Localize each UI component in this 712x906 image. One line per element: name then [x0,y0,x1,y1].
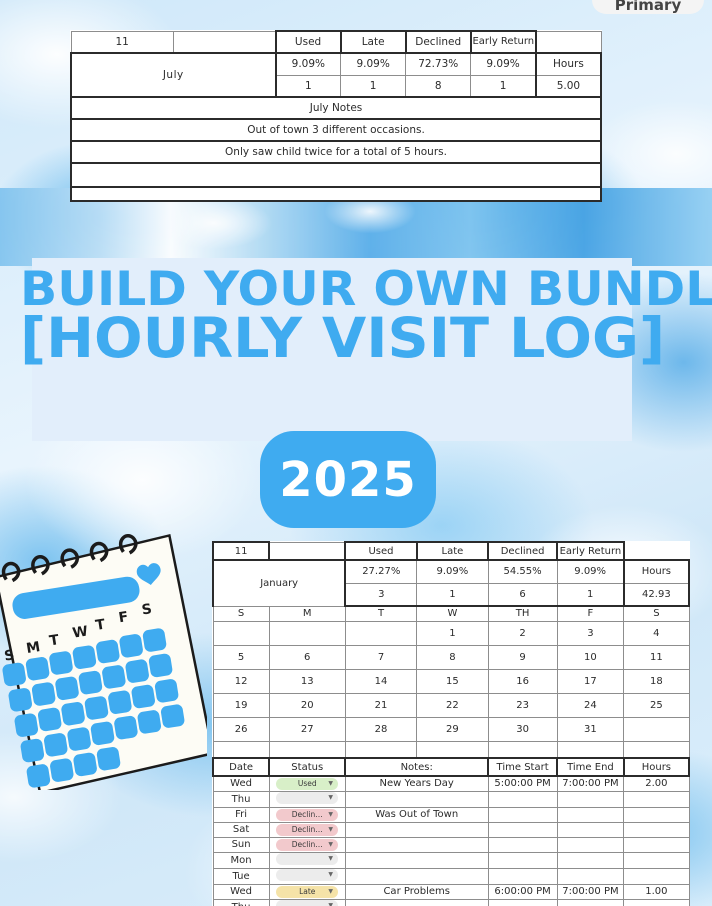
log-header-time-end: Time End [557,758,624,776]
log-cell-hours: 2.00 [624,776,689,791]
calendar-day-cell[interactable]: 8 [417,645,488,669]
july-month-name: July [71,53,276,97]
log-cell-status[interactable]: ▼ [269,899,345,906]
july-percent-declined: 72.73% [406,53,471,75]
status-chip[interactable]: ▼ [276,792,338,804]
chevron-down-icon[interactable]: ▼ [328,853,333,865]
log-row: Tue▼ [213,868,689,884]
calendar-day-cell[interactable]: 31 [557,717,624,741]
chevron-down-icon[interactable]: ▼ [328,900,333,906]
log-cell-time-start[interactable] [488,899,557,906]
log-cell-notes[interactable] [345,852,488,868]
calendar-day-cell[interactable]: 25 [624,693,689,717]
july-header-declined: Declined [406,31,471,53]
chevron-down-icon[interactable]: ▼ [328,792,333,804]
log-cell-time-end[interactable] [557,807,624,822]
log-row: SunDeclin…▼ [213,837,689,852]
status-chip[interactable]: ▼ [276,900,338,906]
log-cell-date: Wed [213,884,269,899]
log-row: Thu▼ [213,791,689,807]
log-cell-hours [624,822,689,837]
log-cell-hours [624,791,689,807]
january-header-declined: Declined [488,542,557,560]
log-row: WedLate▼Car Problems6:00:00 PM7:00:00 PM… [213,884,689,899]
january-blank-cell [269,542,345,560]
primary-pill-label: Primary [592,0,704,14]
july-spacer-cell [536,31,601,53]
log-cell-status[interactable]: Late▼ [269,884,345,899]
log-cell-date: Sun [213,837,269,852]
log-cell-date: Wed [213,776,269,791]
july-percent-row: July 9.09% 9.09% 72.73% 9.09% Hours [71,53,601,75]
chevron-down-icon[interactable]: ▼ [328,778,333,790]
log-cell-status[interactable]: ▼ [269,852,345,868]
january-percent-late: 9.09% [417,560,488,583]
calendar-day-header-row: S M T W TH F S [213,606,689,621]
calendar-day-cell[interactable]: 2 [488,621,557,645]
log-rows-container: WedUsed▼New Years Day5:00:00 PM7:00:00 P… [213,776,689,906]
chevron-down-icon[interactable]: ▼ [328,824,333,836]
log-cell-hours [624,837,689,852]
july-count-early-return: 1 [471,75,536,97]
calendar-day-cell[interactable]: 12 [213,669,269,693]
calendar-illustration: SMT WTF S [0,520,207,790]
log-cell-time-end[interactable] [557,791,624,807]
calendar-day-cell[interactable]: 7 [345,645,416,669]
log-cell-time-end[interactable] [557,837,624,852]
chevron-down-icon[interactable]: ▼ [328,869,333,881]
january-hours-label: Hours [624,560,689,583]
log-cell-time-start[interactable] [488,837,557,852]
status-chip[interactable]: Used▼ [276,778,338,790]
july-row-number: 11 [71,31,173,53]
july-header-used: Used [276,31,341,53]
spacer-cell [345,741,416,758]
log-cell-time-end[interactable] [557,852,624,868]
january-count-declined: 6 [488,583,557,606]
status-chip[interactable]: Declin…▼ [276,809,338,821]
chevron-down-icon[interactable]: ▼ [328,809,333,821]
log-cell-date: Thu [213,899,269,906]
title-line-2: [HOURLY VISIT LOG] [20,313,644,364]
january-header-early-return: Early Return [557,542,624,560]
log-cell-date: Sat [213,822,269,837]
calendar-day-header-fri: F [557,606,624,621]
january-spacer-cell [624,542,689,560]
january-hours-value: 42.93 [624,583,689,606]
calendar-week-row: 26 27 28 29 30 31 [213,717,689,741]
january-percent-row: January 27.27% 9.09% 54.55% 9.09% Hours [213,560,689,583]
log-cell-hours [624,852,689,868]
january-log-sheet: 11 Used Late Declined Early Return Janua… [212,541,690,906]
log-cell-notes[interactable]: Was Out of Town [345,807,488,822]
calendar-week-row: 12 13 14 15 16 17 18 [213,669,689,693]
log-cell-notes[interactable] [345,837,488,852]
log-cell-time-end[interactable]: 7:00:00 PM [557,884,624,899]
july-note-3 [71,163,601,187]
calendar-day-cell[interactable]: 15 [417,669,488,693]
calendar-day-cell[interactable]: 26 [213,717,269,741]
log-cell-status[interactable]: ▼ [269,791,345,807]
calendar-day-cell[interactable] [624,717,689,741]
january-stat-header-row: 11 Used Late Declined Early Return [213,542,689,560]
log-cell-hours: 1.00 [624,884,689,899]
calendar-day-cell[interactable]: 16 [488,669,557,693]
calendar-week-row: 5 6 7 8 9 10 11 [213,645,689,669]
log-cell-time-end[interactable] [557,899,624,906]
calendar-day-cell[interactable]: 6 [269,645,345,669]
calendar-week-row: 19 20 21 22 23 24 25 [213,693,689,717]
log-header-status: Status [269,758,345,776]
log-cell-notes[interactable] [345,868,488,884]
calendar-day-header-thu: TH [488,606,557,621]
log-cell-time-end[interactable]: 7:00:00 PM [557,776,624,791]
calendar-day-cell[interactable]: 13 [269,669,345,693]
log-cell-time-start[interactable] [488,807,557,822]
log-header-hours: Hours [624,758,689,776]
calendar-day-cell[interactable]: 22 [417,693,488,717]
july-table: 11 Used Late Declined Early Return July … [70,30,602,202]
status-chip[interactable]: Declin…▼ [276,839,338,851]
calendar-week-row: 1 2 3 4 [213,621,689,645]
calendar-day-header-tue: T [345,606,416,621]
july-count-declined: 8 [406,75,471,97]
svg-text:W: W [71,623,89,641]
log-cell-time-end[interactable] [557,868,624,884]
status-chip[interactable]: ▼ [276,853,338,865]
january-header-late: Late [417,542,488,560]
calendar-day-header-sun: S [213,606,269,621]
calendar-day-cell[interactable]: 5 [213,645,269,669]
log-cell-notes[interactable] [345,822,488,837]
calendar-day-cell[interactable]: 10 [557,645,624,669]
year-badge-text: 2025 [279,452,417,508]
calendar-day-cell[interactable]: 19 [213,693,269,717]
log-cell-notes[interactable] [345,791,488,807]
log-cell-time-start[interactable] [488,791,557,807]
log-header-row: Date Status Notes: Time Start Time End H… [213,758,689,776]
status-chip[interactable]: Late▼ [276,886,338,898]
log-cell-date: Mon [213,852,269,868]
july-percent-late: 9.09% [341,53,406,75]
log-cell-time-start[interactable] [488,868,557,884]
january-percent-declined: 54.55% [488,560,557,583]
january-row-number: 11 [213,542,269,560]
log-cell-status[interactable]: ▼ [269,868,345,884]
log-cell-time-start[interactable] [488,852,557,868]
january-header-used: Used [345,542,416,560]
calendar-day-cell[interactable]: 30 [488,717,557,741]
july-note-row [71,163,601,187]
spacer-cell [417,741,488,758]
january-percent-used: 27.27% [345,560,416,583]
spacer-cell [557,741,624,758]
log-row: FriDeclin…▼Was Out of Town [213,807,689,822]
year-badge: 2025 [260,431,436,528]
log-header-time-start: Time Start [488,758,557,776]
calendar-day-cell[interactable]: 23 [488,693,557,717]
calendar-day-cell[interactable]: 29 [417,717,488,741]
spacer-cell [269,741,345,758]
calendar-day-cell[interactable]: 28 [345,717,416,741]
calendar-day-cell[interactable]: 4 [624,621,689,645]
calendar-day-cell[interactable]: 1 [417,621,488,645]
calendar-day-cell[interactable] [345,621,416,645]
january-count-used: 3 [345,583,416,606]
log-cell-time-start[interactable]: 6:00:00 PM [488,884,557,899]
log-row: Mon▼ [213,852,689,868]
log-header-notes: Notes: [345,758,488,776]
january-table: 11 Used Late Declined Early Return Janua… [212,541,690,906]
july-count-late: 1 [341,75,406,97]
log-cell-notes[interactable] [345,899,488,906]
log-cell-time-end[interactable] [557,822,624,837]
calendar-day-cell[interactable] [213,621,269,645]
july-blank-cell [173,31,275,53]
calendar-day-cell[interactable]: 11 [624,645,689,669]
log-cell-status[interactable]: Declin…▼ [269,822,345,837]
chevron-down-icon[interactable]: ▼ [328,839,333,851]
calendar-day-header-sat: S [624,606,689,621]
january-count-late: 1 [417,583,488,606]
calendar-day-cell[interactable]: 17 [557,669,624,693]
title-block: BUILD YOUR OWN BUNDLE [HOURLY VISIT LOG] [32,268,632,364]
july-percent-early-return: 9.09% [471,53,536,75]
log-cell-date: Fri [213,807,269,822]
calendar-day-header-mon: M [269,606,345,621]
primary-pill-text: Primary [615,0,681,14]
july-summary-sheet: 11 Used Late Declined Early Return July … [70,30,602,202]
log-cell-notes[interactable]: New Years Day [345,776,488,791]
july-notes-header-row: July Notes [71,97,601,119]
july-hours-value: 5.00 [536,75,601,97]
calendar-day-cell[interactable]: 21 [345,693,416,717]
log-cell-time-start[interactable] [488,822,557,837]
july-count-used: 1 [276,75,341,97]
spacer-cell [488,741,557,758]
july-note-4 [71,187,601,201]
log-cell-date: Thu [213,791,269,807]
log-row: Thu▼ [213,899,689,906]
log-cell-notes[interactable]: Car Problems [345,884,488,899]
spacer-cell [213,741,269,758]
july-note-2: Only saw child twice for a total of 5 ho… [71,141,601,163]
july-note-1: Out of town 3 different occasions. [71,119,601,141]
calendar-day-cell[interactable]: 9 [488,645,557,669]
calendar-day-cell[interactable]: 18 [624,669,689,693]
july-note-row: Out of town 3 different occasions. [71,119,601,141]
july-header-late: Late [341,31,406,53]
january-count-early-return: 1 [557,583,624,606]
calendar-day-cell[interactable]: 20 [269,693,345,717]
calendar-day-cell[interactable]: 3 [557,621,624,645]
july-header-early-return: Early Return [471,31,536,53]
calendar-day-header-wed: W [417,606,488,621]
log-cell-status[interactable]: Declin…▼ [269,837,345,852]
calendar-spacer-row [213,741,689,758]
status-chip[interactable]: ▼ [276,869,338,881]
july-stat-header-row: 11 Used Late Declined Early Return [71,31,601,53]
log-cell-date: Tue [213,868,269,884]
log-cell-hours [624,899,689,906]
january-percent-early-return: 9.09% [557,560,624,583]
spacer-cell [624,741,689,758]
july-note-row: Only saw child twice for a total of 5 ho… [71,141,601,163]
calendar-day-cell[interactable] [269,621,345,645]
log-cell-status[interactable]: Used▼ [269,776,345,791]
log-cell-time-start[interactable]: 5:00:00 PM [488,776,557,791]
title-line-1: BUILD YOUR OWN BUNDLE [20,268,644,311]
january-month-name: January [213,560,345,606]
log-row: SatDeclin…▼ [213,822,689,837]
july-percent-used: 9.09% [276,53,341,75]
calendar-day-cell[interactable]: 24 [557,693,624,717]
july-note-row [71,187,601,201]
log-cell-status[interactable]: Declin…▼ [269,807,345,822]
log-row: WedUsed▼New Years Day5:00:00 PM7:00:00 P… [213,776,689,791]
log-cell-hours [624,868,689,884]
chevron-down-icon[interactable]: ▼ [328,886,333,898]
status-chip[interactable]: Declin…▼ [276,824,338,836]
log-header-date: Date [213,758,269,776]
calendar-day-cell[interactable]: 27 [269,717,345,741]
calendar-day-cell[interactable]: 14 [345,669,416,693]
july-notes-header: July Notes [71,97,601,119]
log-cell-hours [624,807,689,822]
july-hours-label: Hours [536,53,601,75]
svg-text:M: M [25,639,41,657]
